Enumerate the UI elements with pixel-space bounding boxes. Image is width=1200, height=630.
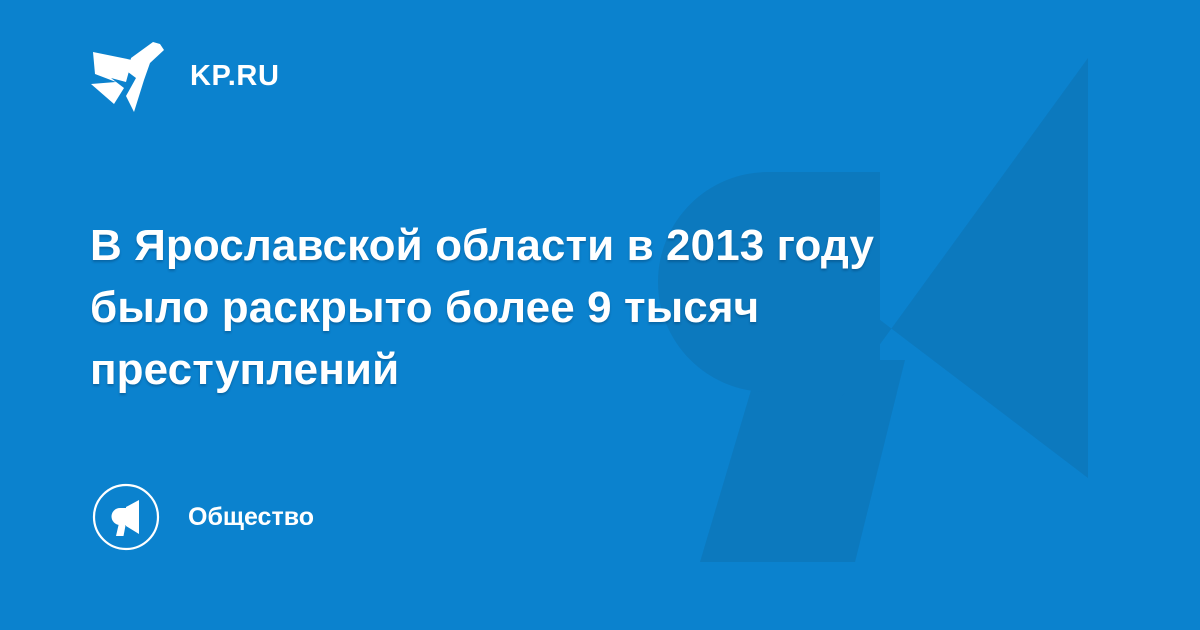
page-title: В Ярославской области в 2013 году было р… [90, 215, 990, 401]
category-badge[interactable]: Общество [92, 483, 314, 551]
site-header: KP.RU [90, 38, 280, 114]
category-label[interactable]: Общество [188, 505, 314, 530]
social-share-card: KP.RU В Ярославской области в 2013 году … [0, 0, 1200, 630]
megaphone-icon [92, 483, 160, 551]
swallow-bird-icon [90, 38, 168, 114]
brand-logo-text[interactable]: KP.RU [190, 62, 280, 91]
